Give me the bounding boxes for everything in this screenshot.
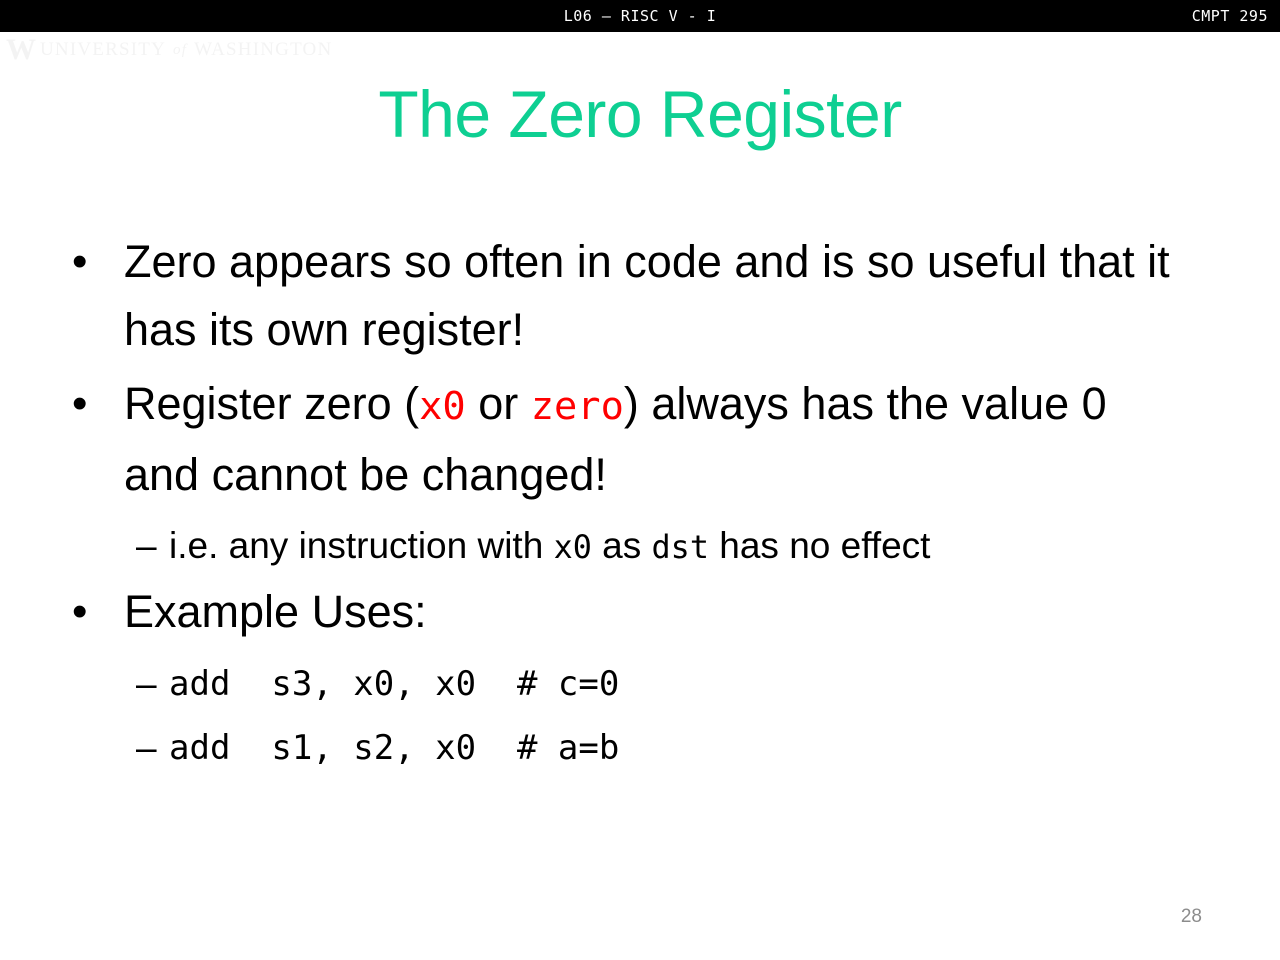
- bullet-segment: or: [466, 378, 531, 429]
- dash-marker-icon: –: [136, 716, 169, 780]
- dash-marker-icon: –: [136, 515, 169, 577]
- uw-w-icon: W: [6, 35, 33, 65]
- bullet-item: • Example Uses:: [0, 578, 1280, 646]
- bullet-text: Zero appears so often in code and is so …: [124, 228, 1184, 364]
- bullet-text: Register zero (x0 or zero) always has th…: [124, 370, 1184, 509]
- lecture-title: L06 – RISC V - I: [0, 0, 1280, 32]
- bullet-item: • Register zero (x0 or zero) always has …: [0, 370, 1280, 509]
- slide-title: The Zero Register: [0, 78, 1280, 151]
- dash-marker-icon: –: [136, 652, 169, 716]
- slide-body: • Zero appears so often in code and is s…: [0, 228, 1280, 780]
- bullet-marker-icon: •: [72, 578, 124, 646]
- university-of-washington-logo: W UNIVERSITY of WASHINGTON: [6, 36, 332, 64]
- slide-header-bar: L06 – RISC V - I CMPT 295: [0, 0, 1280, 32]
- uw-wordmark-of: of: [173, 42, 187, 59]
- code-token-x0: x0: [419, 384, 466, 429]
- sub-bullet-text: i.e. any instruction with x0 as dst has …: [169, 515, 1280, 578]
- course-code: CMPT 295: [1192, 0, 1268, 32]
- sub-bullet-item: – i.e. any instruction with x0 as dst ha…: [0, 515, 1280, 578]
- code-example-item: – add s1, s2, x0 # a=b: [0, 716, 1280, 780]
- sub-bullet-segment: i.e. any instruction with: [169, 525, 554, 566]
- code-example-item: – add s3, x0, x0 # c=0: [0, 652, 1280, 716]
- code-token-zero: zero: [531, 384, 624, 429]
- page-number: 28: [1181, 906, 1202, 928]
- code-example-text: add s3, x0, x0 # c=0: [169, 652, 1280, 716]
- sub-bullet-segment: has no effect: [709, 525, 930, 566]
- code-example-text: add s1, s2, x0 # a=b: [169, 716, 1280, 780]
- bullet-marker-icon: •: [72, 228, 124, 296]
- uw-wordmark-washington: WASHINGTON: [194, 39, 332, 61]
- code-token-x0: x0: [554, 528, 592, 566]
- bullet-item: • Zero appears so often in code and is s…: [0, 228, 1280, 364]
- uw-wordmark-university: UNIVERSITY: [40, 39, 166, 61]
- sub-bullet-segment: as: [592, 525, 652, 566]
- bullet-segment: Register zero (: [124, 378, 419, 429]
- bullet-marker-icon: •: [72, 370, 124, 438]
- code-token-dst: dst: [652, 528, 709, 566]
- bullet-text: Example Uses:: [124, 578, 1184, 646]
